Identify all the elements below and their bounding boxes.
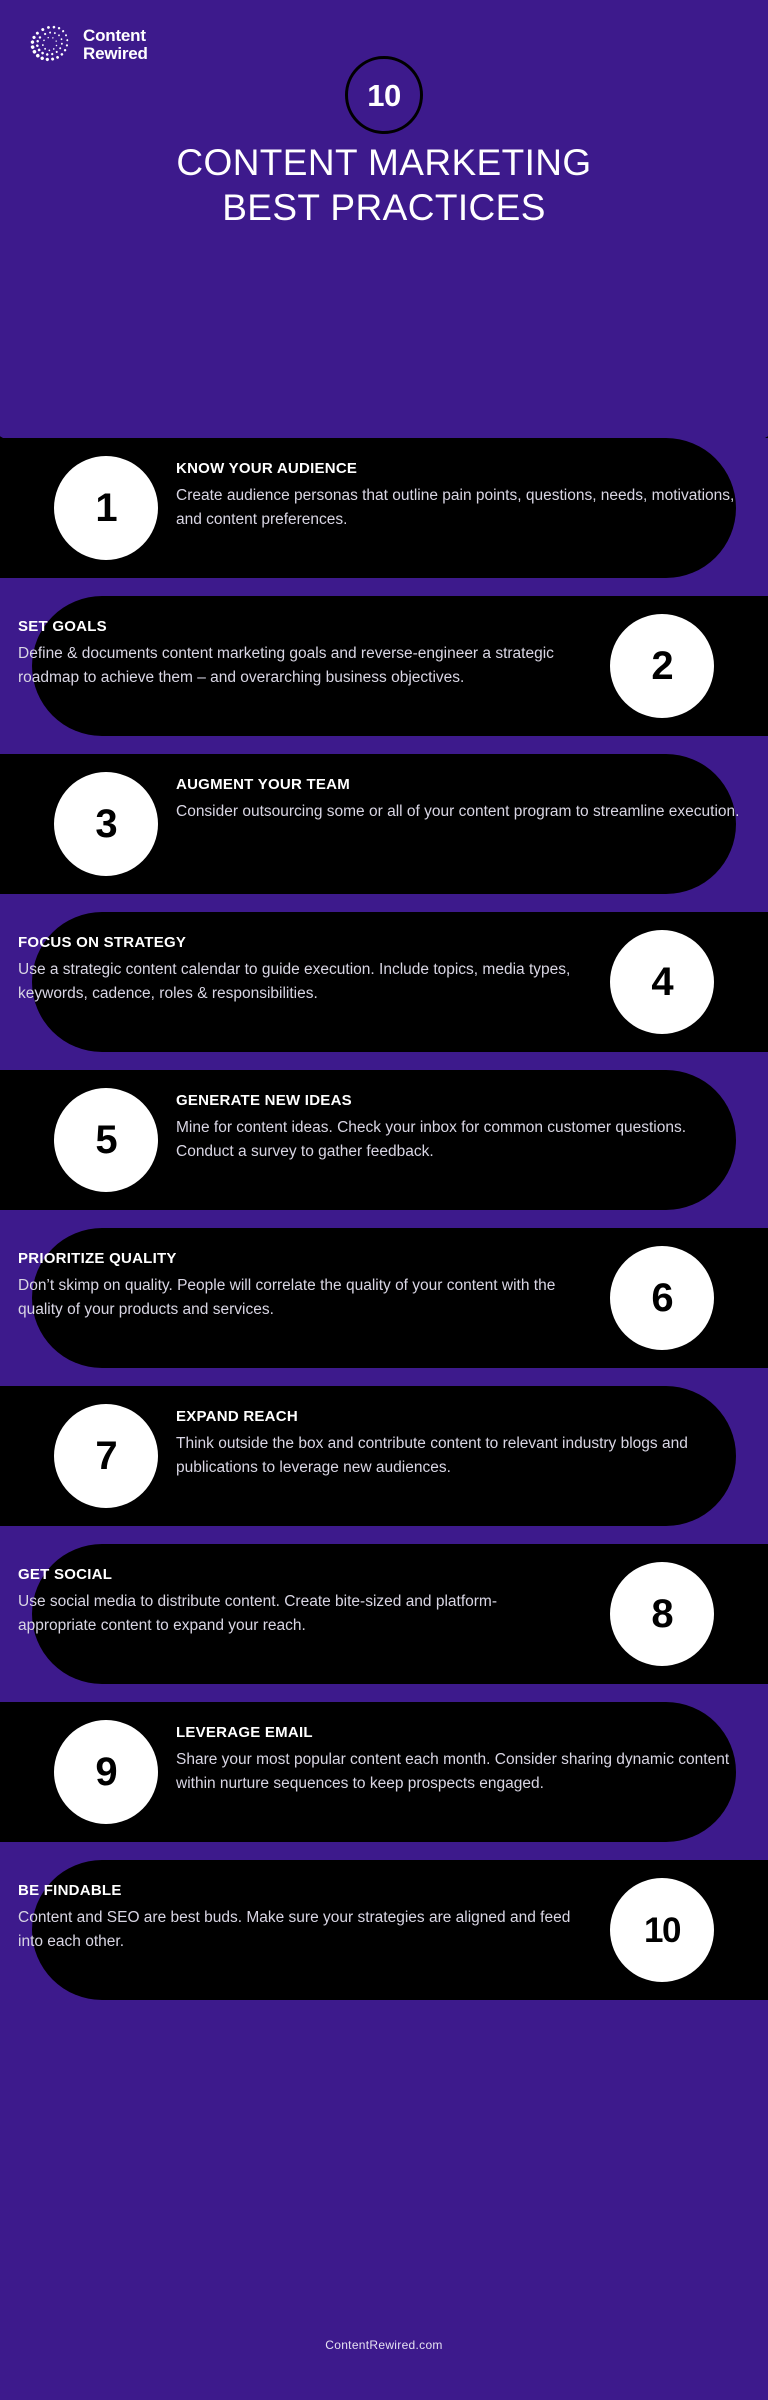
practice-number: 5 xyxy=(95,1120,116,1160)
practice-content: KNOW YOUR AUDIENCECreate audience person… xyxy=(176,460,768,531)
practice-body: Create audience personas that outline pa… xyxy=(176,484,746,531)
practice-number-circle: 5 xyxy=(54,1088,158,1192)
practice-number: 1 xyxy=(95,488,116,528)
practice-content: EXPAND REACHThink outside the box and co… xyxy=(176,1408,768,1479)
practice-row[interactable]: 9LEVERAGE EMAILShare your most popular c… xyxy=(0,1702,768,1842)
practice-body: Think outside the box and contribute con… xyxy=(176,1432,746,1479)
header-count-badge: 10 xyxy=(345,56,423,134)
footer: ContentRewired.com xyxy=(0,2240,768,2400)
brand-logo-line1: Content xyxy=(83,26,146,45)
practice-content: PRIORITIZE QUALITYDon’t skimp on quality… xyxy=(18,1250,572,1321)
practice-row[interactable]: 3AUGMENT YOUR TEAMConsider outsourcing s… xyxy=(0,754,768,894)
practice-row[interactable]: 8GET SOCIALUse social media to distribut… xyxy=(0,1544,768,1684)
practice-body: Share your most popular content each mon… xyxy=(176,1748,746,1795)
brand-logo-line2: Rewired xyxy=(83,44,148,63)
practice-title: AUGMENT YOUR TEAM xyxy=(176,776,746,793)
practice-title: GET SOCIAL xyxy=(18,1566,572,1583)
header-count-number: 10 xyxy=(367,80,400,111)
practice-body: Use a strategic content calendar to guid… xyxy=(18,958,572,1005)
page-title-line1: CONTENT MARKETING xyxy=(176,142,591,183)
swirl-ring-logo-icon xyxy=(28,22,74,68)
practice-title: SET GOALS xyxy=(18,618,572,635)
practice-number: 8 xyxy=(651,1594,672,1634)
practice-title: BE FINDABLE xyxy=(18,1882,572,1899)
practice-row[interactable]: 6PRIORITIZE QUALITYDon’t skimp on qualit… xyxy=(0,1228,768,1368)
practice-number-circle: 8 xyxy=(610,1562,714,1666)
practice-content: LEVERAGE EMAILShare your most popular co… xyxy=(176,1724,768,1795)
practice-number-circle: 4 xyxy=(610,930,714,1034)
practice-content: SET GOALSDefine & documents content mark… xyxy=(18,618,572,689)
practice-content: GENERATE NEW IDEASMine for content ideas… xyxy=(176,1092,768,1163)
practice-number-circle: 7 xyxy=(54,1404,158,1508)
practice-content: FOCUS ON STRATEGYUse a strategic content… xyxy=(18,934,572,1005)
practice-row[interactable]: 7EXPAND REACHThink outside the box and c… xyxy=(0,1386,768,1526)
practice-row[interactable]: 2SET GOALSDefine & documents content mar… xyxy=(0,596,768,736)
practice-number-circle: 2 xyxy=(610,614,714,718)
best-practices-list: 1KNOW YOUR AUDIENCECreate audience perso… xyxy=(0,438,768,2000)
practice-number: 3 xyxy=(95,804,116,844)
header: Content Rewired 10 CONTENT MARKETING BES… xyxy=(0,0,768,438)
practice-title: GENERATE NEW IDEAS xyxy=(176,1092,746,1109)
practice-number: 7 xyxy=(95,1436,116,1476)
practice-number: 9 xyxy=(95,1752,116,1792)
practice-body: Define & documents content marketing goa… xyxy=(18,642,572,689)
page-title: CONTENT MARKETING BEST PRACTICES xyxy=(0,140,768,230)
practice-number-circle: 1 xyxy=(54,456,158,560)
practice-title: PRIORITIZE QUALITY xyxy=(18,1250,572,1267)
practice-body: Don’t skimp on quality. People will corr… xyxy=(18,1274,572,1321)
practice-number-circle: 6 xyxy=(610,1246,714,1350)
footer-website[interactable]: ContentRewired.com xyxy=(325,2338,442,2352)
practice-number-circle: 10 xyxy=(610,1878,714,1982)
practice-number: 2 xyxy=(651,646,672,686)
practice-title: FOCUS ON STRATEGY xyxy=(18,934,572,951)
practice-content: GET SOCIALUse social media to distribute… xyxy=(18,1566,572,1637)
page-title-line2: BEST PRACTICES xyxy=(222,187,546,228)
practice-row[interactable]: 4FOCUS ON STRATEGYUse a strategic conten… xyxy=(0,912,768,1052)
practice-number: 6 xyxy=(651,1278,672,1318)
practice-content: BE FINDABLEContent and SEO are best buds… xyxy=(18,1882,572,1953)
practice-number: 4 xyxy=(651,962,672,1002)
practice-number-circle: 9 xyxy=(54,1720,158,1824)
practice-body: Content and SEO are best buds. Make sure… xyxy=(18,1906,572,1953)
brand-logo-text: Content Rewired xyxy=(83,27,148,63)
practice-title: KNOW YOUR AUDIENCE xyxy=(176,460,746,477)
practice-row[interactable]: 1KNOW YOUR AUDIENCECreate audience perso… xyxy=(0,438,768,578)
brand-logo[interactable]: Content Rewired xyxy=(28,22,148,68)
practice-title: LEVERAGE EMAIL xyxy=(176,1724,746,1741)
practice-body: Consider outsourcing some or all of your… xyxy=(176,800,746,824)
practice-body: Mine for content ideas. Check your inbox… xyxy=(176,1116,746,1163)
practice-title: EXPAND REACH xyxy=(176,1408,746,1425)
practice-body: Use social media to distribute content. … xyxy=(18,1590,572,1637)
practice-row[interactable]: 10BE FINDABLEContent and SEO are best bu… xyxy=(0,1860,768,2000)
practice-content: AUGMENT YOUR TEAMConsider outsourcing so… xyxy=(176,776,768,824)
infographic-page: Content Rewired 10 CONTENT MARKETING BES… xyxy=(0,0,768,2400)
practice-number: 10 xyxy=(644,1913,680,1948)
practice-row[interactable]: 5GENERATE NEW IDEASMine for content idea… xyxy=(0,1070,768,1210)
practice-number-circle: 3 xyxy=(54,772,158,876)
